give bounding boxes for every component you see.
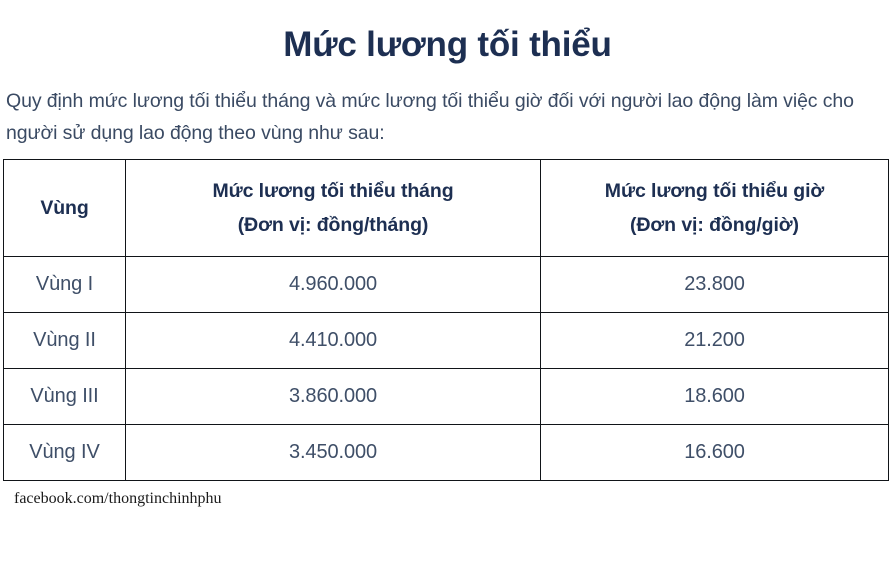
cell-region: Vùng III <box>4 369 126 425</box>
intro-paragraph: Quy định mức lương tối thiểu tháng và mứ… <box>0 68 895 149</box>
cell-hourly-wage: 16.600 <box>541 425 889 481</box>
table-header-row: Vùng Mức lương tối thiểu tháng (Đơn vị: … <box>4 160 889 257</box>
table-row: Vùng II 4.410.000 21.200 <box>4 313 889 369</box>
cell-region: Vùng I <box>4 257 126 313</box>
cell-hourly-wage: 18.600 <box>541 369 889 425</box>
table-body: Vùng I 4.960.000 23.800 Vùng II 4.410.00… <box>4 257 889 481</box>
table-row: Vùng IV 3.450.000 16.600 <box>4 425 889 481</box>
column-header-monthly-unit: (Đơn vị: đồng/tháng) <box>126 208 540 242</box>
table-header: Vùng Mức lương tối thiểu tháng (Đơn vị: … <box>4 160 889 257</box>
document-page: Mức lương tối thiểu Quy định mức lương t… <box>0 0 895 570</box>
column-header-hourly: Mức lương tối thiểu giờ (Đơn vị: đồng/gi… <box>541 160 889 257</box>
column-header-hourly-title: Mức lương tối thiểu giờ <box>541 174 888 208</box>
cell-monthly-wage: 4.960.000 <box>126 257 541 313</box>
source-credit: facebook.com/thongtinchinhphu <box>0 481 895 509</box>
cell-region: Vùng II <box>4 313 126 369</box>
column-header-monthly: Mức lương tối thiểu tháng (Đơn vị: đồng/… <box>126 160 541 257</box>
column-header-monthly-title: Mức lương tối thiểu tháng <box>126 174 540 208</box>
minimum-wage-table: Vùng Mức lương tối thiểu tháng (Đơn vị: … <box>3 159 889 481</box>
cell-monthly-wage: 3.450.000 <box>126 425 541 481</box>
cell-region: Vùng IV <box>4 425 126 481</box>
salary-table-container: Vùng Mức lương tối thiểu tháng (Đơn vị: … <box>0 149 895 481</box>
cell-monthly-wage: 4.410.000 <box>126 313 541 369</box>
cell-monthly-wage: 3.860.000 <box>126 369 541 425</box>
cell-hourly-wage: 21.200 <box>541 313 889 369</box>
column-header-region: Vùng <box>4 160 126 257</box>
column-header-hourly-unit: (Đơn vị: đồng/giờ) <box>541 208 888 242</box>
cell-hourly-wage: 23.800 <box>541 257 889 313</box>
table-row: Vùng III 3.860.000 18.600 <box>4 369 889 425</box>
page-title: Mức lương tối thiểu <box>0 0 895 68</box>
table-row: Vùng I 4.960.000 23.800 <box>4 257 889 313</box>
